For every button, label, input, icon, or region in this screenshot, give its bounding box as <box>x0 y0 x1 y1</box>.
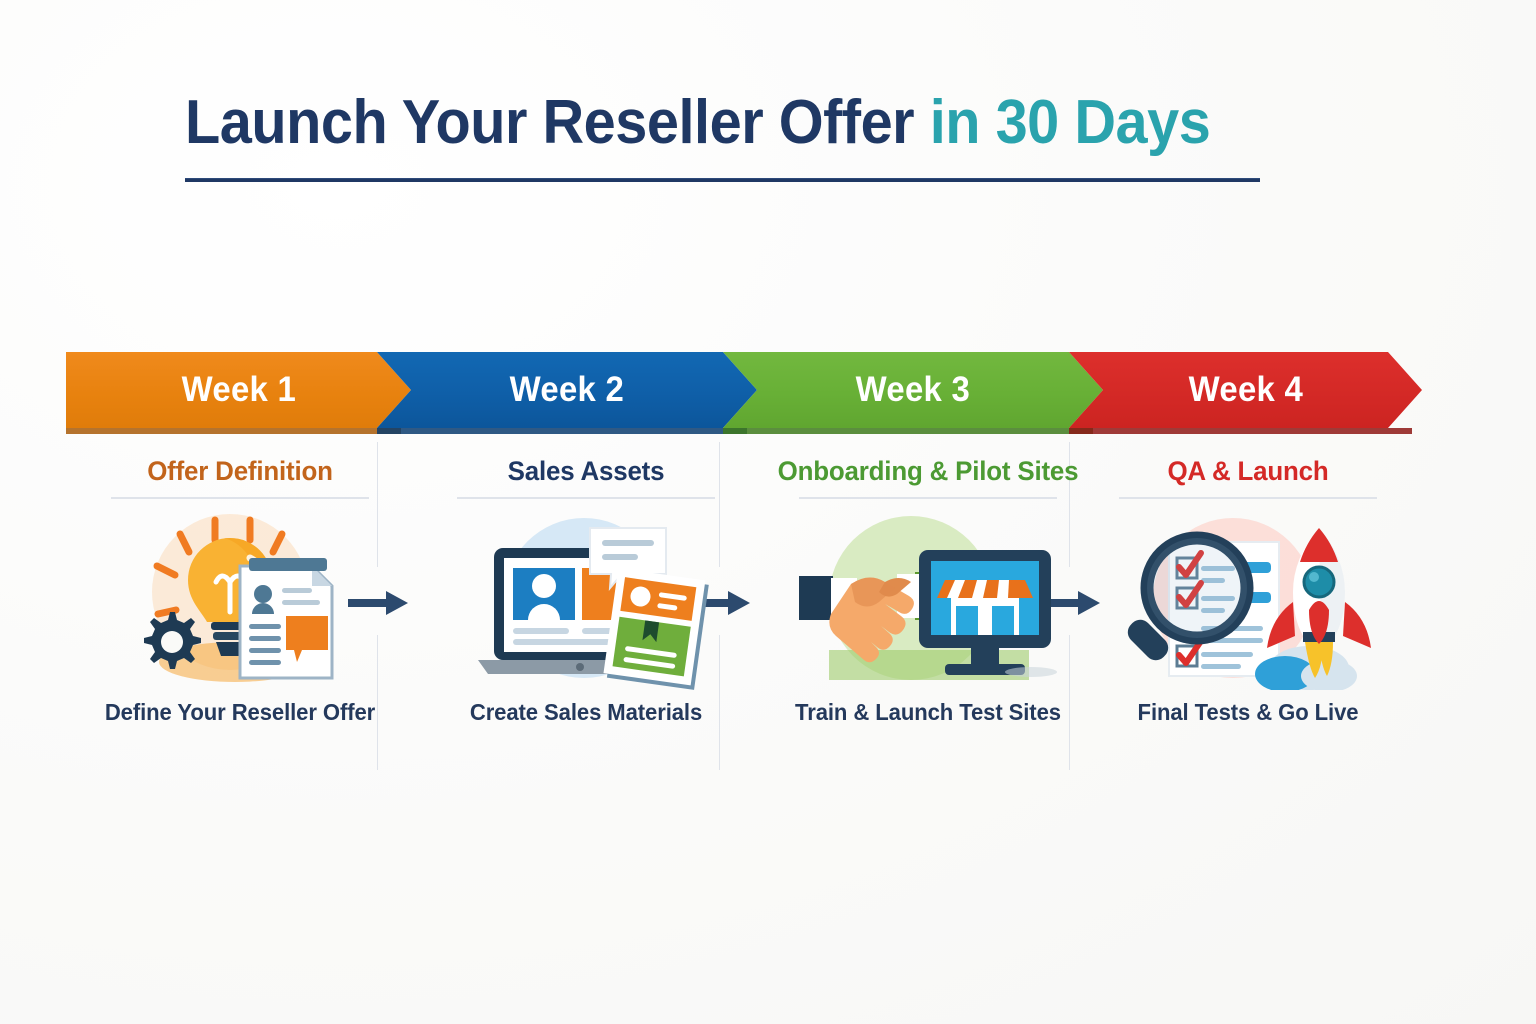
week-columns: Offer Definition <box>66 440 1422 770</box>
week-banner-4[interactable]: Week 4 <box>1069 352 1422 428</box>
week-2-heading: Sales Assets <box>419 440 753 487</box>
handshake-storefront-monitor-icon <box>793 510 1063 690</box>
title-underline <box>185 178 1260 182</box>
week-4-heading: QA & Launch <box>1081 440 1415 487</box>
week-banner-row: Week 1 Week 2 Week 3 Week 4 <box>66 352 1422 434</box>
week-column-4: QA & Launch <box>1074 440 1422 770</box>
week-column-3: Onboarding & Pilot Sites <box>754 440 1102 770</box>
week-banner-4-shape: Week 4 <box>1069 352 1422 428</box>
week-banner-1-shape: Week 1 <box>66 352 411 428</box>
week-banner-3-shadow <box>723 428 1093 434</box>
magnifier-checklist-rocket-icon <box>1113 510 1383 690</box>
week-1-heading: Offer Definition <box>73 440 407 487</box>
week-4-heading-rule <box>1119 497 1377 499</box>
laptop-brochure-icon <box>456 510 716 690</box>
week-banner-2-shape: Week 2 <box>377 352 757 428</box>
week-banner-2-label: Week 2 <box>510 370 624 410</box>
week-banner-2-shadow <box>377 428 747 434</box>
week-banner-4-shadow <box>1069 428 1412 434</box>
week-banner-1-shadow <box>66 428 401 434</box>
week-column-2: Sales Assets <box>412 440 760 770</box>
week-banner-1[interactable]: Week 1 <box>66 352 411 428</box>
week-banner-2[interactable]: Week 2 <box>377 352 757 428</box>
week-column-1: Offer Definition <box>66 440 414 770</box>
page-title-accent: in 30 Days <box>914 88 1210 157</box>
infographic-canvas: Launch Your Reseller Offer in 30 Days We… <box>0 0 1536 1024</box>
week-4-illustration <box>1074 505 1422 695</box>
week-banner-3-shape: Week 3 <box>723 352 1103 428</box>
page-title: Launch Your Reseller Offer in 30 Days <box>185 92 1260 154</box>
week-4-caption: Final Tests & Go Live <box>1081 699 1415 726</box>
week-1-heading-rule <box>111 497 369 499</box>
page-title-main: Launch Your Reseller Offer <box>185 88 914 157</box>
week-2-caption: Create Sales Materials <box>419 699 753 726</box>
week-banner-4-label: Week 4 <box>1188 370 1302 410</box>
week-3-caption: Train & Launch Test Sites <box>761 699 1095 726</box>
week-banner-3-label: Week 3 <box>856 370 970 410</box>
week-3-heading-rule <box>799 497 1057 499</box>
week-1-caption: Define Your Reseller Offer <box>73 699 407 726</box>
week-2-heading-rule <box>457 497 715 499</box>
week-banner-3[interactable]: Week 3 <box>723 352 1103 428</box>
week-2-illustration <box>412 505 760 695</box>
week-3-heading: Onboarding & Pilot Sites <box>761 440 1095 487</box>
week-3-illustration <box>754 505 1102 695</box>
week-banner-1-label: Week 1 <box>181 370 295 410</box>
lightbulb-gear-document-icon <box>110 510 370 690</box>
week-1-illustration <box>66 505 414 695</box>
